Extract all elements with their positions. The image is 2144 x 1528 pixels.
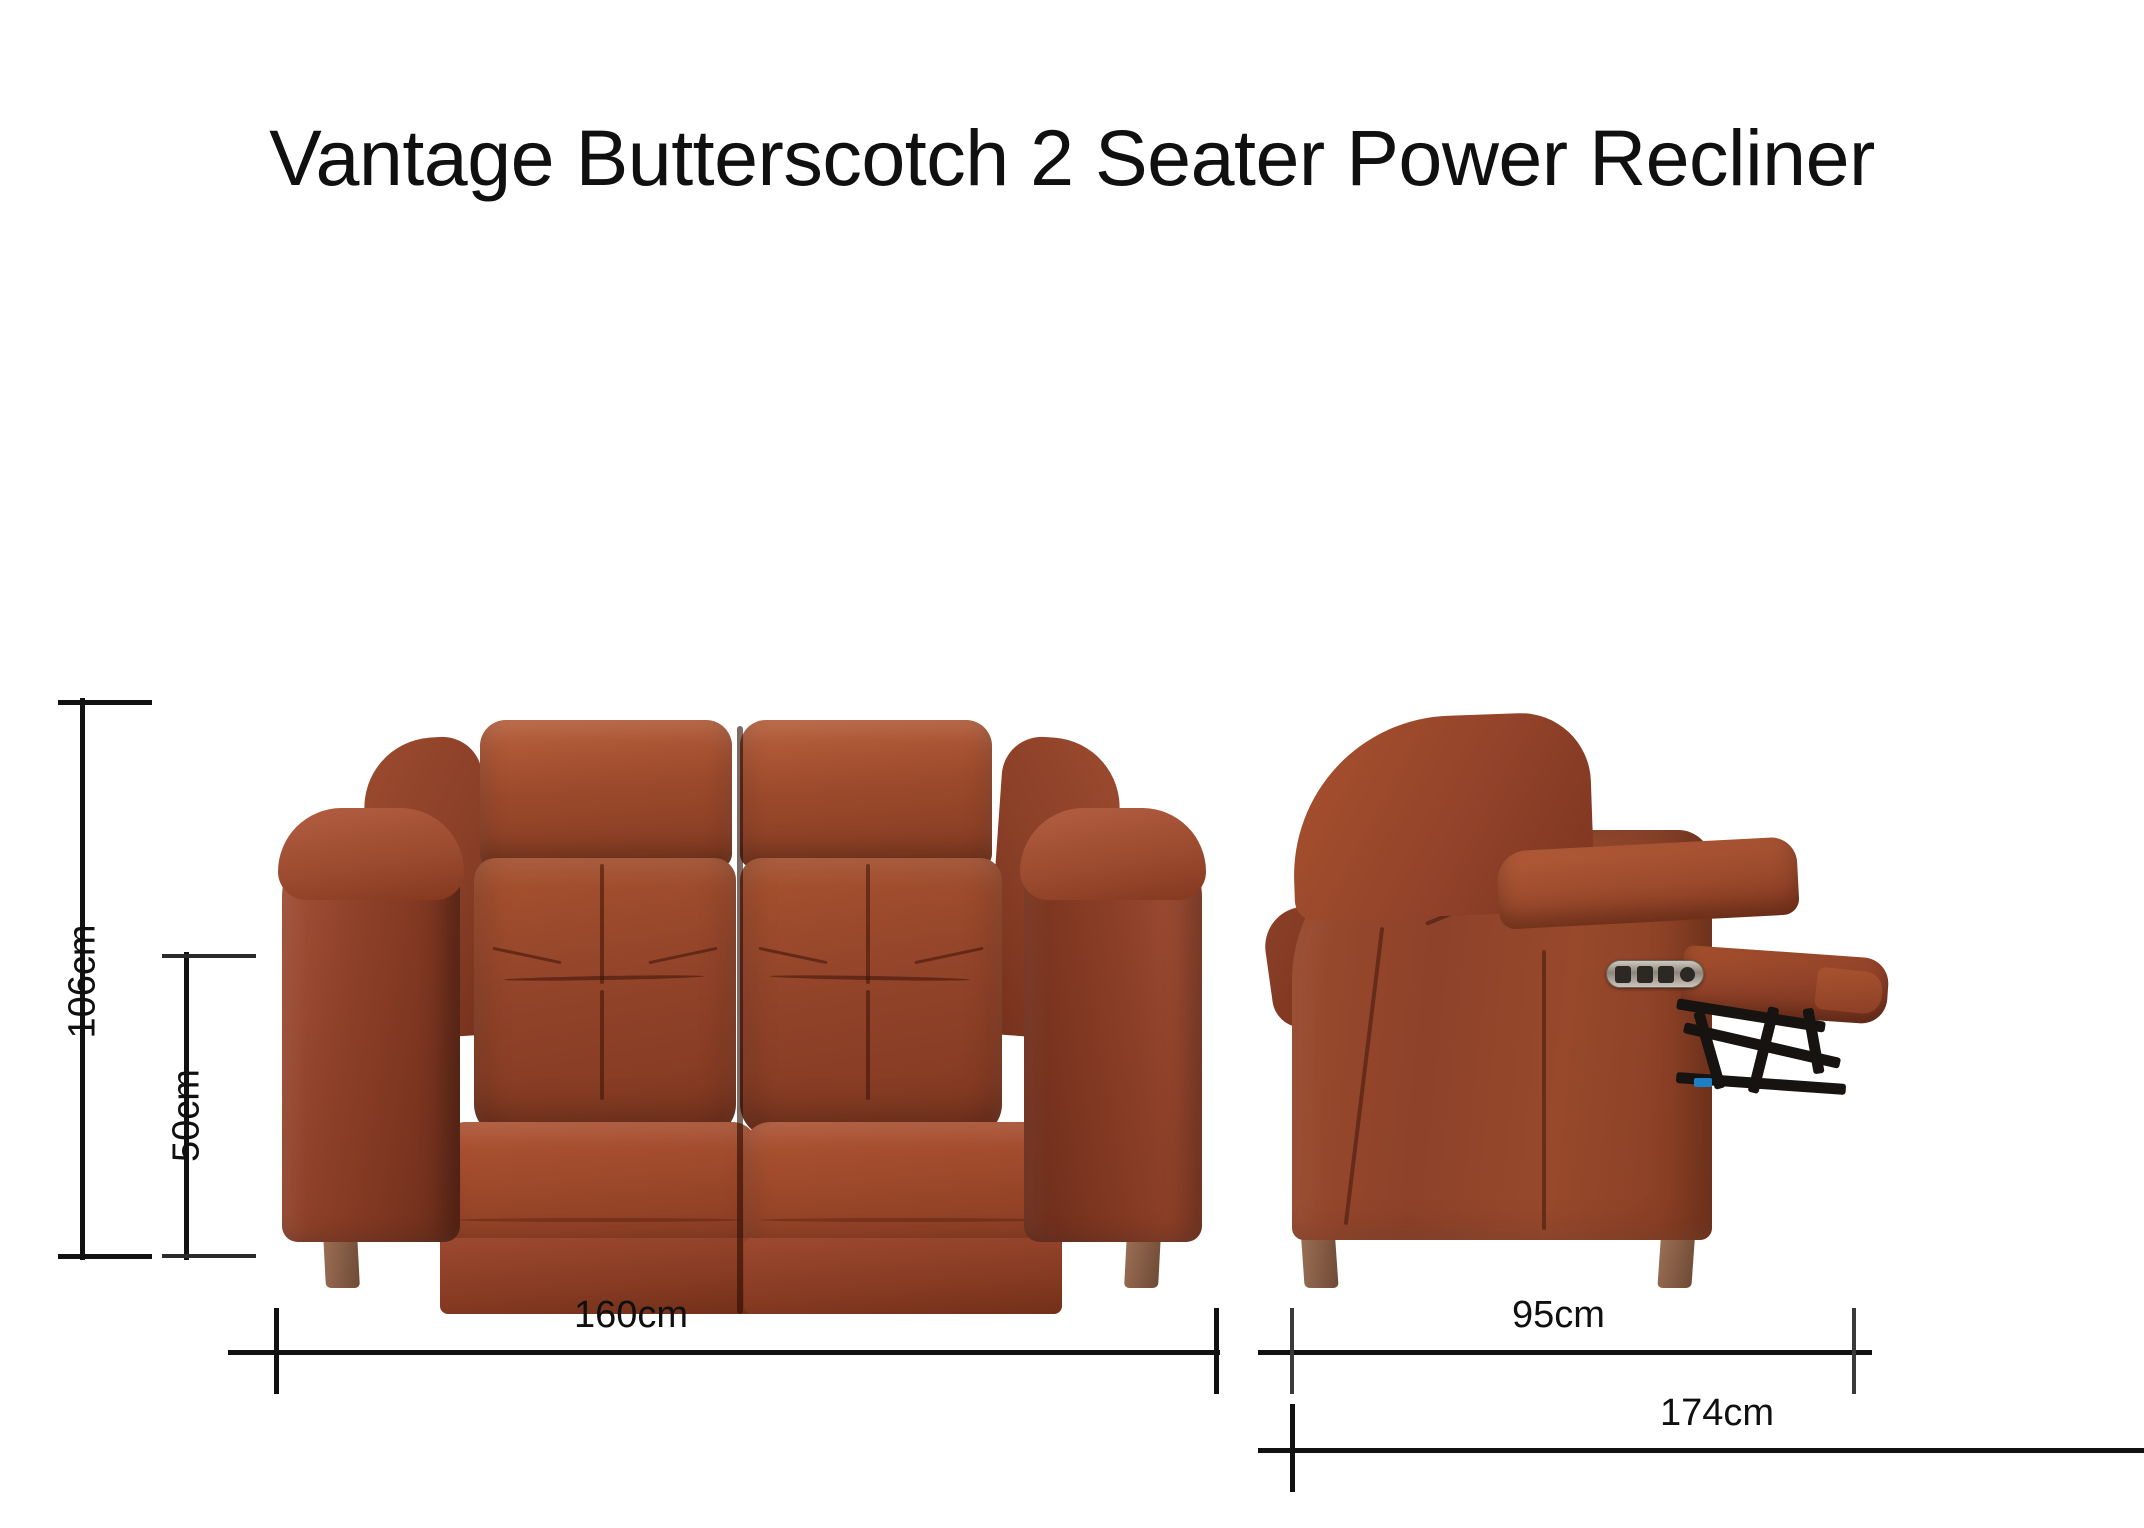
width-tick-left bbox=[274, 1308, 279, 1394]
width-tick-right bbox=[1214, 1308, 1219, 1394]
width-dimension-label: 160cm bbox=[574, 1294, 688, 1337]
height-dimension-label: 106cm bbox=[62, 917, 105, 1047]
front-arm-right bbox=[1024, 812, 1202, 1242]
side-view-recliner bbox=[1268, 716, 1888, 1288]
page-title: Vantage Butterscotch 2 Seater Power Recl… bbox=[0, 118, 2144, 197]
mechanism-blue-label bbox=[1694, 1078, 1712, 1087]
side-recliner-mechanism bbox=[1676, 1004, 1862, 1108]
front-back-cushion-right bbox=[740, 858, 1002, 1138]
seat-height-dimension-label: 50cm bbox=[166, 1051, 209, 1181]
recline-icon[interactable] bbox=[1658, 966, 1674, 983]
front-headrest-right bbox=[740, 720, 992, 868]
reclined-depth-dimension-label: 174cm bbox=[1660, 1392, 1774, 1435]
depth-dimension-line bbox=[1258, 1350, 1872, 1355]
front-arm-left bbox=[282, 812, 460, 1242]
depth-dimension-label: 95cm bbox=[1512, 1294, 1605, 1337]
front-headrest-left bbox=[480, 720, 732, 868]
diagram-canvas: Vantage Butterscotch 2 Seater Power Recl… bbox=[0, 0, 2144, 1528]
reclined-depth-tick-left bbox=[1290, 1404, 1295, 1492]
seat-height-tick-top bbox=[162, 954, 256, 958]
front-view-sofa bbox=[282, 718, 1202, 1288]
reclined-depth-dimension-line bbox=[1258, 1448, 2144, 1453]
front-arm-roll-right bbox=[1020, 808, 1206, 900]
front-centre-seam bbox=[737, 726, 743, 1314]
front-arm-roll-left bbox=[278, 808, 464, 900]
front-back-cushion-left bbox=[474, 858, 736, 1138]
power-control-panel[interactable] bbox=[1606, 960, 1704, 988]
headrest-adjust-icon[interactable] bbox=[1615, 966, 1631, 983]
front-skirt-right bbox=[744, 1238, 1062, 1314]
seat-height-tick-bottom bbox=[162, 1254, 256, 1258]
width-dimension-line bbox=[228, 1350, 1220, 1355]
depth-tick-left bbox=[1290, 1308, 1294, 1394]
usb-power-icon[interactable] bbox=[1680, 967, 1695, 982]
side-back-top-rail bbox=[1496, 836, 1800, 930]
depth-tick-right bbox=[1852, 1308, 1856, 1394]
height-tick-bottom bbox=[58, 1254, 152, 1259]
height-tick-top bbox=[58, 700, 152, 705]
lumbar-adjust-icon[interactable] bbox=[1637, 966, 1653, 983]
